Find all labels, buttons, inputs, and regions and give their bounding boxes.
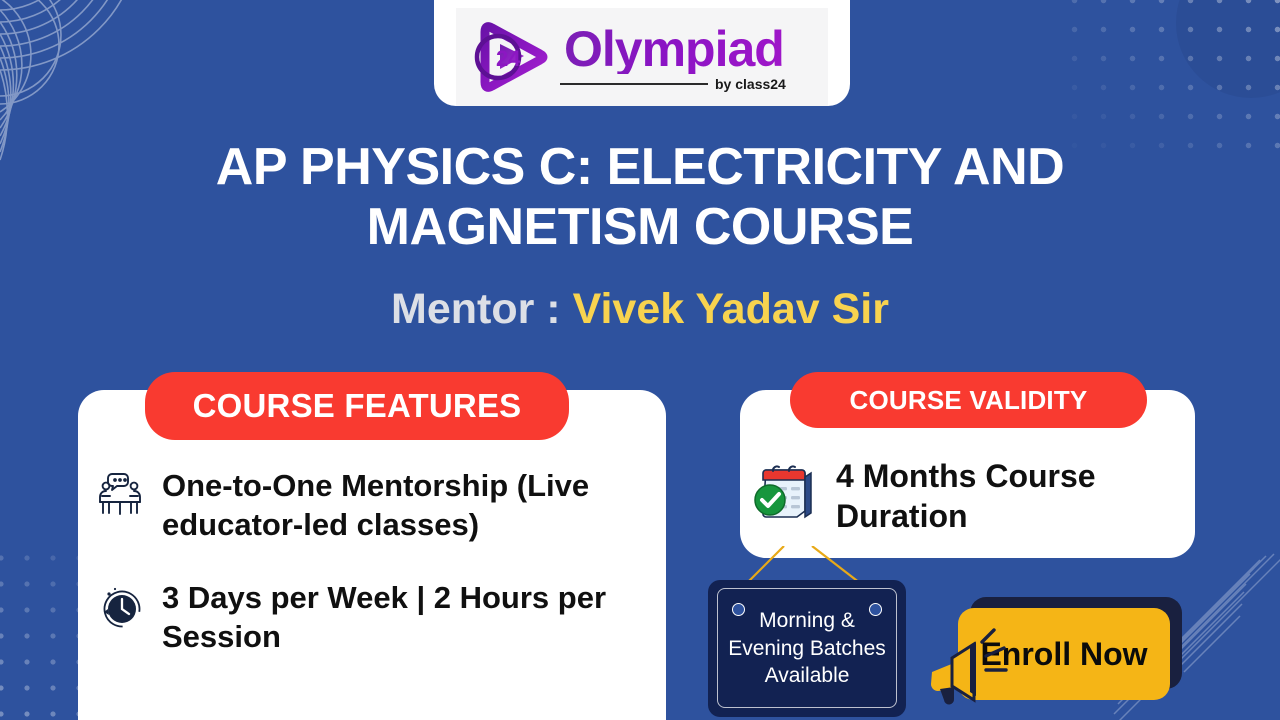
brand-logo-card: 24 Olympiad by class24 (434, 0, 850, 106)
course-promo-banner: 24 Olympiad by class24 AP Physics C: Ele… (0, 0, 1280, 720)
page-title: AP Physics C: Electricity and Magnetism … (0, 138, 1280, 258)
batch-availability-text: Morning & Evening Batches Available (708, 607, 906, 690)
calendar-check-icon (748, 456, 818, 526)
mentorship-icon (96, 466, 144, 518)
feature-item-mentorship: One-to-One Mentorship (Live educator-led… (96, 466, 656, 544)
course-features-badge: COURSE FEATURES (145, 372, 569, 440)
feature-text: 3 Days per Week | 2 Hours per Session (162, 578, 654, 656)
byline-rule (560, 83, 708, 85)
course-validity-text: 4 Months Course Duration (836, 452, 1166, 536)
svg-text:24: 24 (496, 46, 521, 71)
background-blob-decoration (1176, 0, 1280, 98)
brand-byline-row: by class24 (560, 77, 786, 91)
class24-play-logo-icon: 24 (470, 20, 550, 94)
course-validity-content: 4 Months Course Duration (748, 452, 1178, 536)
course-validity-badge: COURSE VALIDITY (790, 372, 1147, 428)
mentor-label: Mentor : (391, 285, 573, 333)
enroll-now-button[interactable]: Enroll Now (958, 608, 1170, 700)
course-features-list: One-to-One Mentorship (Live educator-led… (96, 466, 656, 656)
mentor-line: Mentor : Vivek Yadav Sir (0, 288, 1280, 331)
brand-logo-inner-panel: 24 Olympiad by class24 (456, 8, 828, 106)
batch-availability-sign: Morning & Evening Batches Available (708, 580, 906, 717)
clock-icon (96, 578, 144, 630)
brand-name: Olympiad (564, 24, 786, 74)
feature-text: One-to-One Mentorship (Live educator-led… (162, 466, 654, 544)
brand-byline: by class24 (715, 77, 786, 91)
brand-wordmark: Olympiad by class24 (560, 24, 786, 91)
feature-item-schedule: 3 Days per Week | 2 Hours per Session (96, 578, 656, 656)
mentor-name: Vivek Yadav Sir (573, 285, 889, 333)
